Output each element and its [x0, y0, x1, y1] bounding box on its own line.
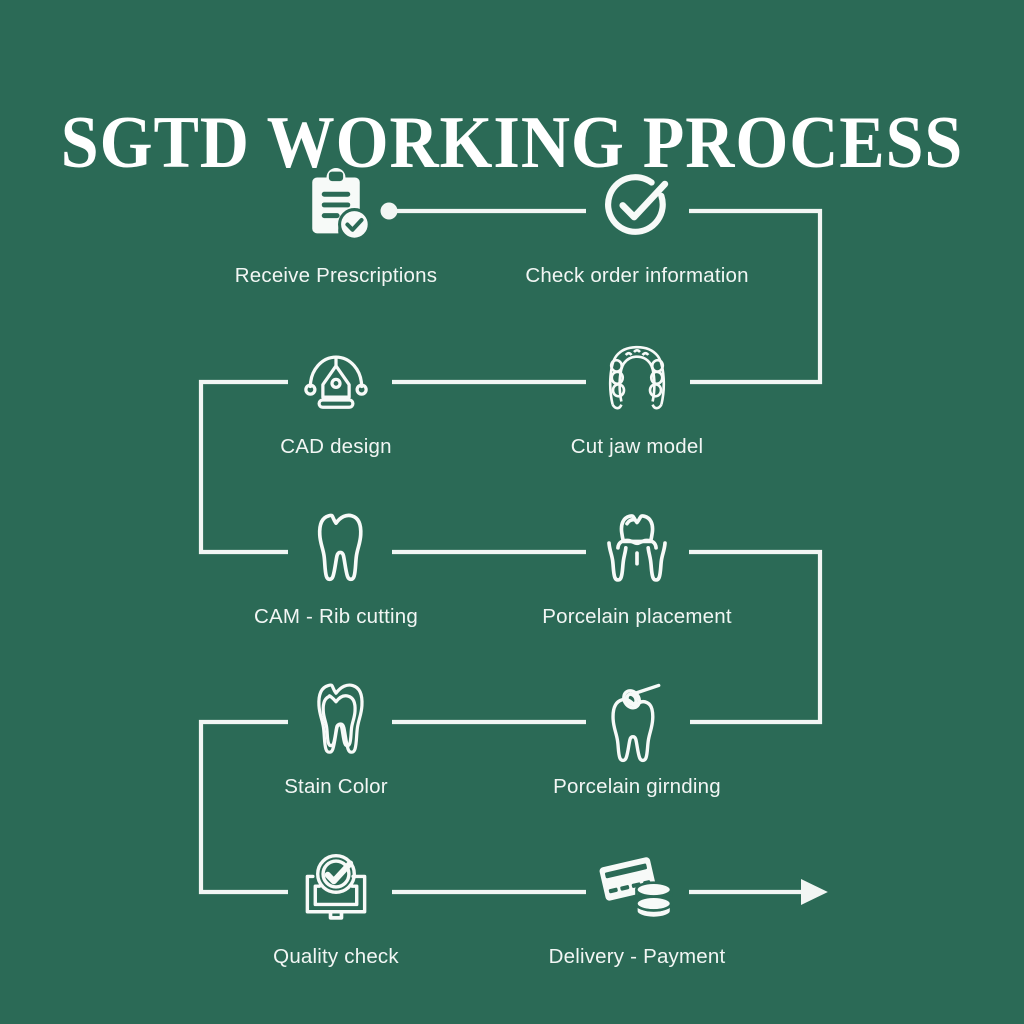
- step-label: Check order information: [487, 264, 787, 288]
- infographic-canvas: SGTD WORKING PROCESS: [0, 0, 1024, 1024]
- step-label: Receive Prescriptions: [186, 264, 486, 288]
- step-label: Stain Color: [186, 775, 486, 799]
- tooth-drill-icon: [487, 679, 787, 765]
- step-node-cam-rib-cutting[interactable]: CAM - Rib cutting: [186, 509, 486, 629]
- tooth-double-outline-icon: [186, 679, 486, 765]
- card-coins-icon: [487, 849, 787, 935]
- step-label: Delivery - Payment: [487, 945, 787, 969]
- clipboard-check-icon: [186, 168, 486, 254]
- step-node-porcelain-grinding[interactable]: Porcelain girnding: [487, 679, 787, 799]
- step-node-receive-prescriptions[interactable]: Receive Prescriptions: [186, 168, 486, 288]
- step-node-stain-color[interactable]: Stain Color: [186, 679, 486, 799]
- step-label: CAD design: [186, 435, 486, 459]
- tooth-outline-icon: [186, 509, 486, 595]
- dental-arch-icon: [487, 339, 787, 425]
- step-node-cut-jaw-model[interactable]: Cut jaw model: [487, 339, 787, 459]
- tooth-crown-icon: [487, 509, 787, 595]
- step-node-quality-check[interactable]: Quality check: [186, 849, 486, 969]
- step-label: Porcelain girnding: [487, 775, 787, 799]
- step-node-porcelain-placement[interactable]: Porcelain placement: [487, 509, 787, 629]
- step-node-cad-design[interactable]: CAD design: [186, 339, 486, 459]
- step-label: Porcelain placement: [487, 605, 787, 629]
- step-label: CAM - Rib cutting: [186, 605, 486, 629]
- step-node-delivery-payment[interactable]: Delivery - Payment: [487, 849, 787, 969]
- pen-tool-icon: [186, 339, 486, 425]
- step-label: Cut jaw model: [487, 435, 787, 459]
- circle-check-icon: [487, 168, 787, 254]
- monitor-check-icon: [186, 849, 486, 935]
- step-node-check-order-information[interactable]: Check order information: [487, 168, 787, 288]
- step-label: Quality check: [186, 945, 486, 969]
